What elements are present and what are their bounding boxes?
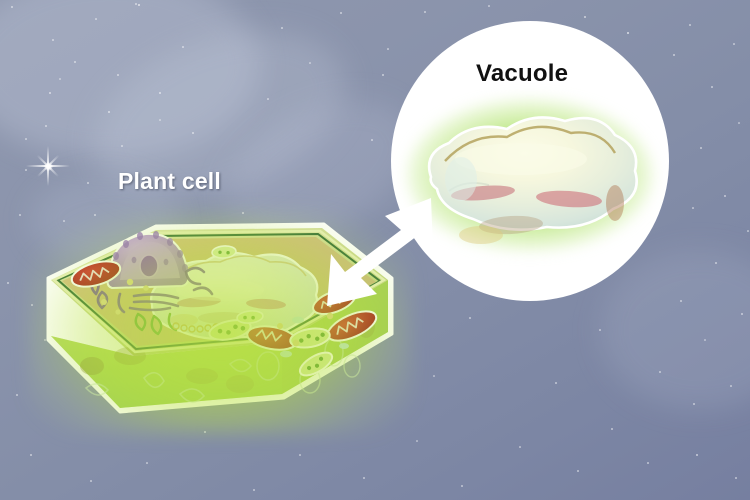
star [7, 282, 9, 284]
star [733, 43, 735, 45]
star [138, 4, 140, 6]
star [433, 375, 435, 377]
plant-cell-label: Plant cell [118, 168, 221, 195]
star [469, 317, 471, 319]
star [488, 5, 490, 7]
star [267, 98, 269, 100]
star [555, 382, 557, 384]
star [711, 86, 713, 88]
star [117, 74, 119, 76]
star [738, 122, 740, 124]
star [19, 214, 21, 216]
star [108, 111, 110, 113]
star [741, 313, 743, 315]
star [299, 454, 301, 456]
nebula-haze-2 [72, 0, 368, 230]
star [25, 169, 27, 171]
star [25, 138, 27, 140]
star [673, 54, 675, 56]
star [693, 403, 695, 405]
star [135, 3, 137, 5]
star [371, 139, 373, 141]
star [159, 92, 161, 94]
illustration-canvas: Vacuole Plant cell [0, 0, 750, 500]
star [309, 62, 311, 64]
star [340, 12, 342, 14]
star [724, 195, 726, 197]
star [692, 207, 694, 209]
star [11, 6, 13, 8]
star [659, 371, 661, 373]
star [387, 48, 389, 50]
star [599, 329, 601, 331]
star [700, 147, 702, 149]
star [647, 462, 649, 464]
star [696, 454, 698, 456]
star [519, 446, 521, 448]
star [715, 262, 717, 264]
star [45, 125, 47, 127]
vacuole-label: Vacuole [476, 60, 568, 88]
star [182, 46, 184, 48]
star [253, 489, 255, 491]
magnified-vacuole [429, 117, 637, 244]
star [416, 440, 418, 442]
star [281, 27, 283, 29]
star [747, 230, 749, 232]
star [49, 92, 51, 94]
star [461, 485, 463, 487]
magnifier-pointer-arrow [325, 196, 435, 308]
star [16, 394, 18, 396]
star [87, 182, 89, 184]
star [689, 24, 691, 26]
star [577, 470, 579, 472]
star [59, 78, 61, 80]
star [121, 145, 123, 147]
star [584, 16, 586, 18]
star [424, 11, 426, 13]
star [192, 132, 194, 134]
star [52, 39, 54, 41]
star [146, 462, 148, 464]
star [30, 454, 32, 456]
star [680, 300, 682, 302]
star [730, 385, 732, 387]
star [382, 74, 384, 76]
star [159, 119, 161, 121]
star [704, 339, 706, 341]
star [90, 480, 92, 482]
nebula-haze-1 [0, 0, 260, 160]
star [735, 477, 737, 479]
star [74, 61, 76, 63]
star [363, 477, 365, 479]
star [611, 428, 613, 430]
star [95, 18, 97, 20]
